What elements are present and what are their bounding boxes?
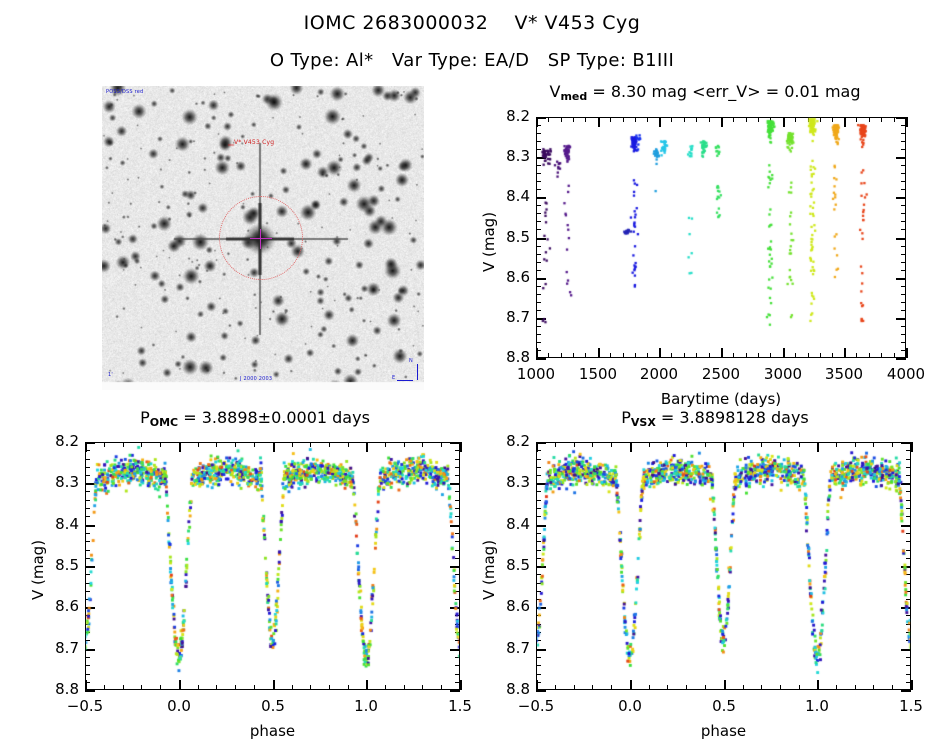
phase-vsx-panel: −0.50.00.51.01.58.28.38.48.58.68.78.8pha… bbox=[0, 0, 944, 747]
phase-vsx-points bbox=[0, 0, 944, 747]
